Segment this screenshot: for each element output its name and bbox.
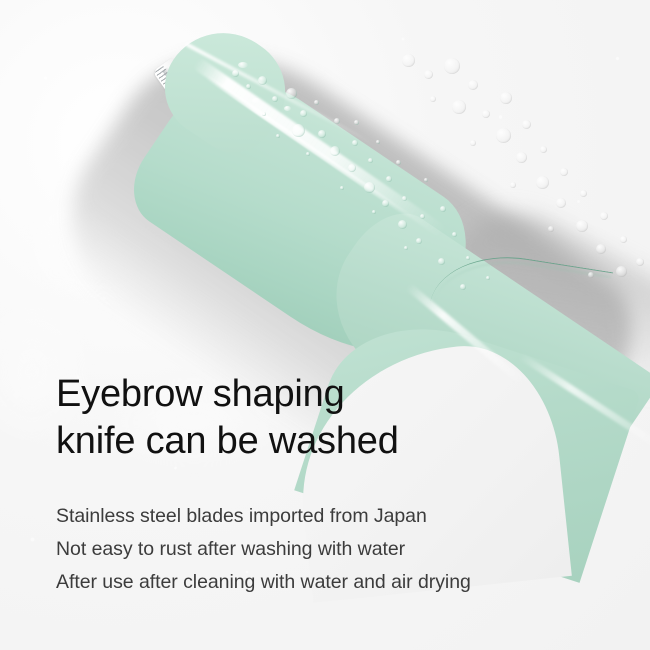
feature-item: Not easy to rust after washing with wate… xyxy=(56,533,616,566)
feature-item: After use after cleaning with water and … xyxy=(56,566,616,599)
feature-item: Stainless steel blades imported from Jap… xyxy=(56,500,616,533)
feature-list: Stainless steel blades imported from Jap… xyxy=(56,500,616,599)
headline: Eyebrow shaping knife can be washed xyxy=(56,371,596,465)
product-promo-image: Eyebrow shaping knife can be washed Stai… xyxy=(0,0,650,650)
